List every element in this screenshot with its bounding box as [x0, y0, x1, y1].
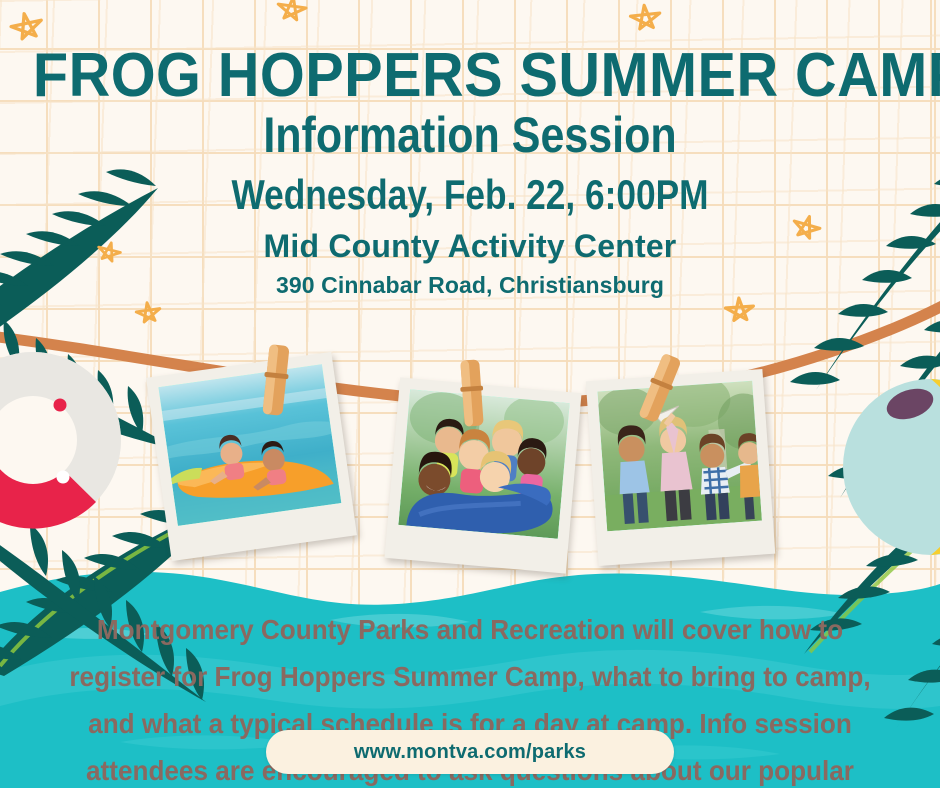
photo-pool-float — [158, 364, 341, 526]
photo-paper-airplane — [598, 381, 762, 531]
life-ring-icon — [0, 345, 128, 535]
headline-block: FROG HOPPERS SUMMER CAMP Information Ses… — [0, 44, 940, 298]
page-subtitle: Information Session — [66, 109, 874, 162]
star-icon — [719, 294, 762, 337]
event-address: 390 Cinnabar Road, Christiansburg — [0, 272, 940, 298]
page-title: FROG HOPPERS SUMMER CAMP — [33, 44, 907, 107]
website-link-pill[interactable]: www.montva.com/parks — [266, 730, 674, 774]
star-icon — [623, 0, 669, 46]
clothespin-icon — [453, 356, 492, 430]
beach-ball-icon — [836, 372, 940, 562]
event-venue: Mid County Activity Center — [0, 228, 940, 265]
star-icon — [268, 0, 313, 37]
website-url[interactable]: www.montva.com/parks — [354, 741, 586, 764]
photo-card — [586, 369, 775, 566]
clothespin-icon — [254, 341, 298, 418]
star-icon — [130, 298, 168, 336]
summer-camp-flyer: FROG HOPPERS SUMMER CAMP Information Ses… — [0, 0, 940, 788]
event-date-time: Wednesday, Feb. 22, 6:00PM — [75, 172, 865, 218]
photo-card — [146, 352, 357, 561]
